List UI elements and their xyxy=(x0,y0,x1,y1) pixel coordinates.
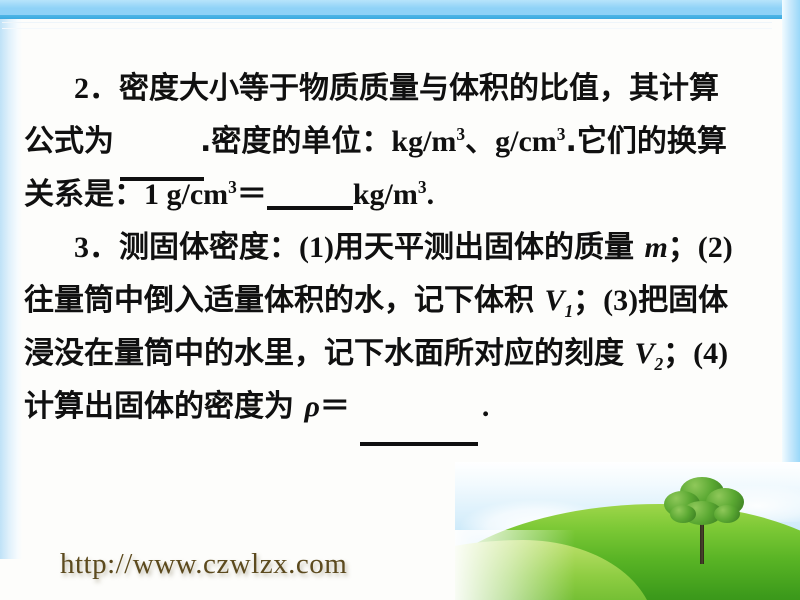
item3-line4-period: . xyxy=(482,390,490,423)
variable-v2: V2 xyxy=(634,337,663,370)
step-marker-4: (4) xyxy=(693,337,728,370)
slide-divider-line-lower xyxy=(2,28,772,29)
conversion-left-base: 1 g/cm xyxy=(144,178,228,211)
unit-g-per-cm3: g/cm3 xyxy=(495,125,565,158)
item2-line1-text: 密度大小等于物质质量与体积的比值，其计算 xyxy=(119,71,719,106)
item2-line2-lead: 公式为 xyxy=(24,124,114,159)
variable-v1: V1 xyxy=(544,284,573,317)
unit-kg-exponent: 3 xyxy=(456,124,465,144)
answer-blank-conversion[interactable] xyxy=(267,206,353,210)
item2-number: 2． xyxy=(74,72,119,105)
item3-step4-text: 计算出固体的密度为 xyxy=(24,389,304,424)
item2-line2-units-label: .密度的单位： xyxy=(200,124,391,159)
variable-m: m xyxy=(644,231,667,264)
item3-step2-punct: ； xyxy=(573,283,603,318)
equals-sign: ＝ xyxy=(320,389,350,424)
variable-v2-subscript: 2 xyxy=(654,354,663,374)
text-line-item2-3: 关系是：1 g/cm3＝kg/m3. xyxy=(24,168,780,221)
unit-kg-base: kg/m xyxy=(391,125,456,158)
slide-top-accent-band xyxy=(0,0,800,15)
item2-line3-period: . xyxy=(427,178,435,211)
conversion-right-unit: kg/m3 xyxy=(353,178,427,211)
equals-sign: ＝ xyxy=(237,177,267,212)
variable-v1-subscript: 1 xyxy=(564,301,573,321)
item3-step3-punct: ； xyxy=(663,336,693,371)
conversion-right-base: kg/m xyxy=(353,178,418,211)
variable-v1-base: V xyxy=(544,284,564,317)
item3-step1-text: 用天平测出固体的质量 xyxy=(334,230,644,265)
slide-divider-line-upper xyxy=(2,22,772,23)
presentation-slide: 2．密度大小等于物质质量与体积的比值，其计算 公式为.密度的单位：kg/m3、g… xyxy=(0,0,800,600)
text-line-item3-4: 计算出固体的密度为 ρ＝. xyxy=(24,380,780,433)
conversion-left-value: 1 g/cm3 xyxy=(144,178,237,211)
item3-step3-lead: 把固体 xyxy=(638,283,728,318)
text-line-item3-3: 浸没在量筒中的水里，记下水面所对应的刻度 V2；(4) xyxy=(24,327,780,380)
item3-step3-text: 浸没在量筒中的水里，记下水面所对应的刻度 xyxy=(24,336,634,371)
item3-heading: 测固体密度： xyxy=(119,230,299,265)
step-marker-1: (1) xyxy=(299,231,334,264)
unit-g-base: g/cm xyxy=(495,125,557,158)
text-line-item2-2: 公式为.密度的单位：kg/m3、g/cm3.它们的换算 xyxy=(24,115,780,168)
item2-line2-tail: .它们的换算 xyxy=(565,124,726,159)
variable-rho: ρ xyxy=(304,390,319,423)
green-hill-with-tree-photo xyxy=(455,462,800,600)
item3-step1-punct: ； xyxy=(668,230,698,265)
step-marker-2: (2) xyxy=(698,231,733,264)
text-line-item3-2: 往量筒中倒入适量体积的水，记下体积 V1；(3)把固体 xyxy=(24,274,780,327)
item3-step2-text: 往量筒中倒入适量体积的水，记下体积 xyxy=(24,283,544,318)
conversion-right-exponent: 3 xyxy=(418,177,427,197)
variable-v2-base: V xyxy=(634,337,654,370)
photo-tree-canopy xyxy=(662,475,746,531)
slide-left-accent-strip xyxy=(0,19,22,559)
text-line-item2-1: 2．密度大小等于物质质量与体积的比值，其计算 xyxy=(24,62,780,115)
conversion-left-exponent: 3 xyxy=(228,177,237,197)
step-marker-3: (3) xyxy=(603,284,638,317)
photo-left-haze xyxy=(455,530,575,600)
item2-line3-lead: 关系是： xyxy=(24,177,144,212)
item3-number: 3． xyxy=(74,231,119,264)
text-line-item3-1: 3．测固体密度：(1)用天平测出固体的质量 m；(2) xyxy=(24,221,780,274)
watermark-url: http://www.czwlzx.com xyxy=(60,548,347,581)
unit-kg-per-m3: kg/m3 xyxy=(391,125,465,158)
unit-separator: 、 xyxy=(465,124,495,159)
slide-body-text: 2．密度大小等于物质质量与体积的比值，其计算 公式为.密度的单位：kg/m3、g… xyxy=(24,62,780,433)
